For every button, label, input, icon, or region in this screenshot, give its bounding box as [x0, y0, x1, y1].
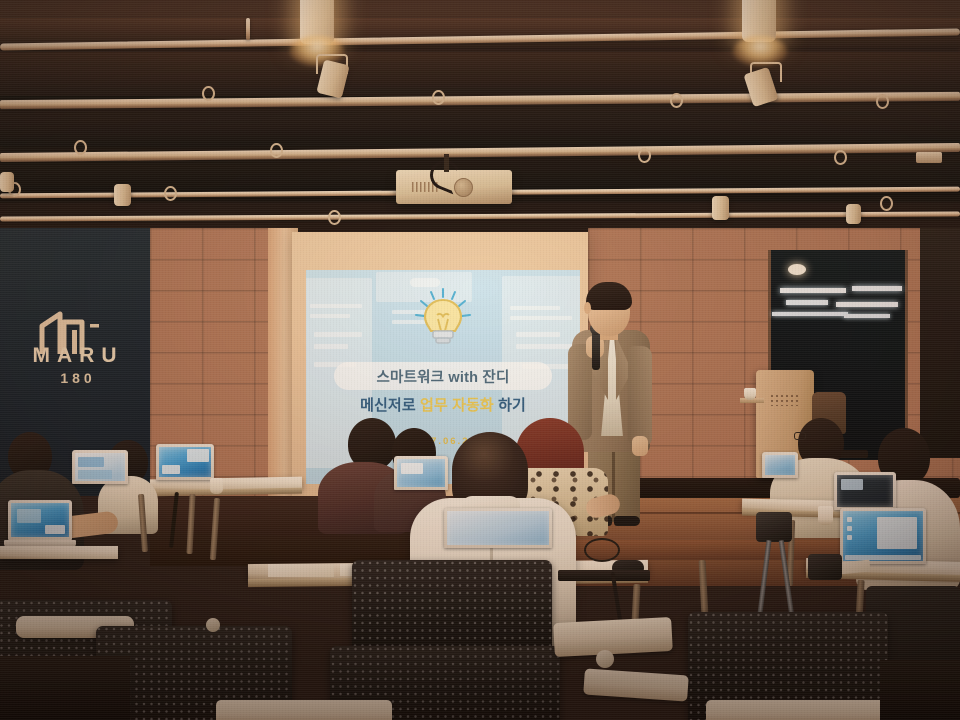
table-left-front [0, 546, 118, 559]
ceiling-device-right [916, 152, 942, 163]
chair-seat-center-right [553, 617, 673, 657]
laptop-window [45, 525, 65, 534]
slide-ghost-line-7 [314, 332, 362, 337]
laptop-window [78, 457, 104, 467]
pipe-hanger-3 [670, 93, 683, 108]
slide-subtitle: 메신저로 업무 자동화 하기 [318, 394, 568, 415]
doorway-light-bar-5 [772, 312, 848, 316]
pipe-hanger-10 [164, 186, 177, 201]
handout-center-1 [268, 564, 334, 577]
laptop-screen [843, 511, 923, 561]
laptop-window [17, 509, 41, 523]
laptop-screen [75, 453, 125, 481]
attendee-right-rear-glasses [794, 432, 806, 440]
paper-cup-right [818, 506, 833, 525]
slide-ghost-line-5 [510, 306, 560, 310]
laptop-window [847, 535, 852, 540]
laptop-back-left-1 [156, 444, 214, 480]
lightbulb-idea-icon [413, 288, 473, 350]
track-spotlight-small-1 [114, 184, 131, 206]
laptop-center-rear [444, 508, 552, 548]
laptop-window [187, 449, 209, 462]
slide-subtitle-part-1: 메신저로 [360, 397, 420, 414]
maru-wordmark: MARU [20, 344, 136, 368]
chair-seat-center [216, 700, 392, 720]
floor-shadow-left [0, 656, 130, 720]
pipe-hanger-11 [328, 210, 341, 225]
laptop-right-front [840, 508, 926, 564]
speaker-hair [586, 282, 632, 310]
slide-title-pill: 스마트워크 with 잔디 [334, 362, 552, 390]
pipe-hanger-4 [876, 94, 889, 109]
laptop-back-center [394, 456, 448, 490]
laptop-window [847, 526, 852, 531]
wall-dark-right-edge [920, 228, 960, 458]
chair-wheel-right [596, 650, 614, 668]
laptop-back-left-2 [72, 450, 128, 484]
floor-shadow-right [880, 660, 960, 720]
slide-subtitle-highlight-1: 업무 [420, 397, 448, 414]
laptop-screen [159, 447, 211, 477]
pipe-hanger-12 [880, 196, 893, 211]
laptop-taskbar [845, 555, 921, 560]
laptop-window [78, 470, 112, 479]
slide-ghost-line-6 [510, 316, 572, 320]
tripod-camera [756, 512, 792, 542]
slide-ghost-line-1 [310, 304, 362, 308]
slide-ghost-line-2 [310, 314, 350, 318]
laptop-right-mid [834, 472, 896, 510]
laptop-screen [11, 503, 69, 537]
pipe-hanger-8 [834, 150, 847, 165]
laptop-window [401, 463, 423, 474]
laptop-right-rear [762, 452, 798, 478]
pipe-hanger-2 [432, 90, 445, 105]
laptop-window [877, 517, 917, 549]
desk-tray-center [558, 570, 650, 581]
chair-seat-right-rear [583, 668, 689, 701]
laptop-window [847, 517, 852, 522]
laptop-screen [837, 475, 893, 507]
laptop-screen [447, 511, 549, 545]
seminar-photo: MARU 180 [0, 0, 960, 720]
doorway-light-bar-2 [852, 286, 902, 291]
doorway-light-bar-3 [786, 300, 828, 305]
laptop-window [841, 479, 863, 490]
slide-ghost-line-9 [516, 332, 560, 337]
lectern-cup [744, 388, 756, 400]
slide-subtitle-highlight-2: 자동화 [452, 397, 494, 414]
doorway-light-bar-6 [844, 314, 890, 318]
headphone-cable-center [584, 538, 620, 562]
projector-mount [444, 154, 449, 172]
laptop-screen [765, 455, 795, 475]
laptop-window [162, 465, 180, 474]
slide-ghost-line-10 [516, 344, 572, 349]
chair-seat-right [706, 700, 888, 720]
paper-cup-back-left [210, 478, 223, 494]
slide-ghost-cloud [410, 278, 440, 287]
pipe-hanger-6 [270, 143, 283, 158]
ceiling-beam-2 [0, 52, 960, 96]
slide-subtitle-part-2: 하기 [494, 397, 526, 414]
laptop-front-left [8, 500, 72, 540]
speaker-shoe-right [614, 516, 640, 526]
doorway-light-bar-4 [836, 302, 898, 307]
pipe-hanger-7 [638, 148, 651, 163]
speaker-sleeve-right [628, 346, 652, 446]
microphone [592, 330, 600, 370]
laptop-screen [397, 459, 445, 487]
pipe-hanger-1 [202, 86, 215, 101]
doorway-light-bar-1 [780, 288, 846, 293]
maru-number: 180 [20, 370, 136, 386]
doorway-ceiling-lamp [788, 264, 806, 275]
chair-wheel-left [206, 618, 220, 632]
track-spotlight-small-2 [712, 196, 729, 220]
slide-ghost-line-8 [314, 344, 348, 349]
ceiling-pipe-riser [246, 18, 250, 40]
lectern-speaker-grille [770, 394, 800, 406]
slide-title: 스마트워크 with 잔디 [376, 366, 509, 387]
track-spotlight-small-4 [846, 204, 861, 224]
track-spotlight-small-3 [0, 172, 14, 192]
speaker-hand-right [632, 436, 648, 456]
speaker-ear [584, 302, 591, 314]
pipe-hanger-5 [74, 140, 87, 155]
tripod-camera-2 [808, 554, 842, 580]
